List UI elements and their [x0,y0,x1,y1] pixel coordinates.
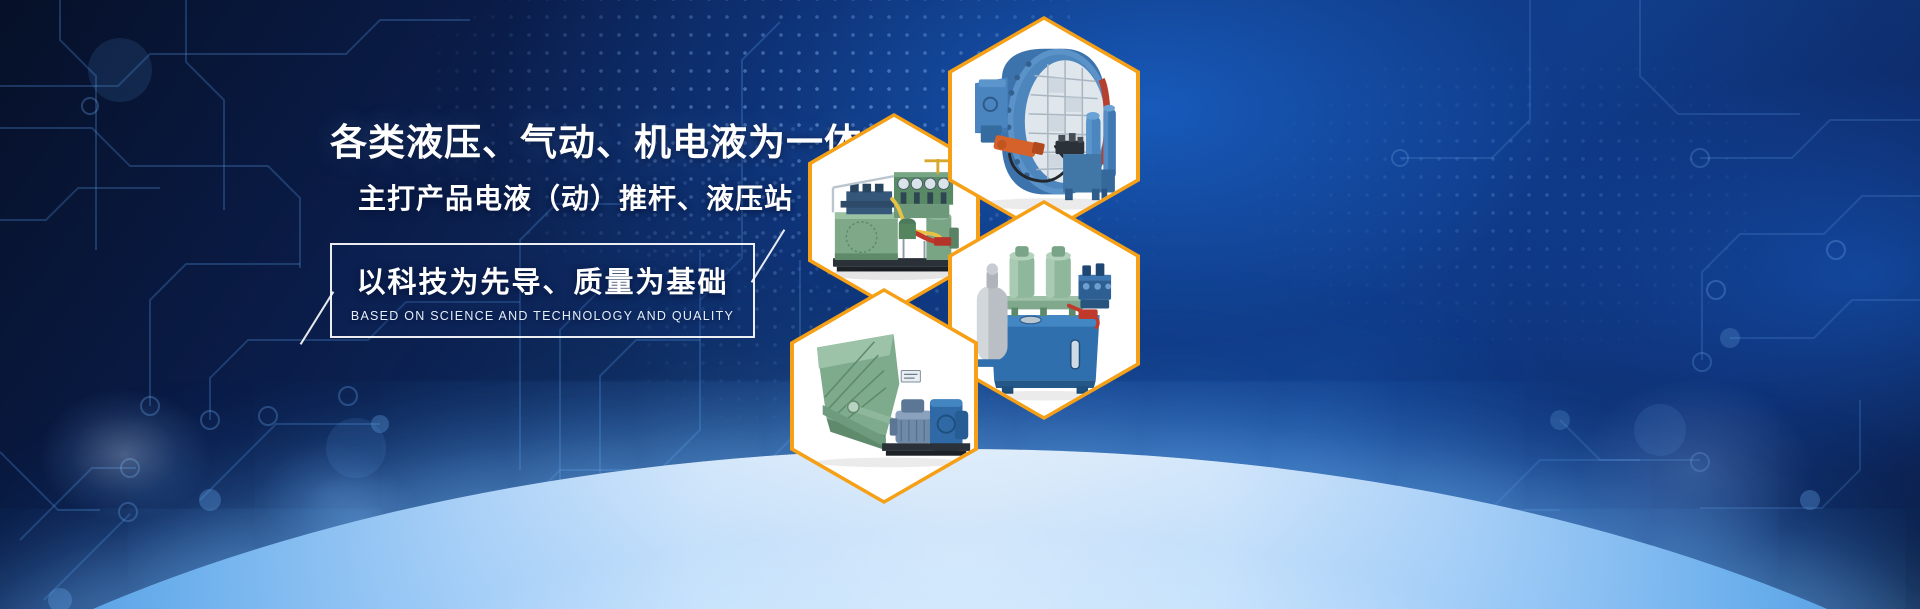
slogan-english: BASED ON SCIENCE AND TECHNOLOGY AND QUAL… [332,309,753,323]
page-title: 各类液压、气动、机电液为一体 [330,120,800,165]
dot-matrix-texture-right [1250,60,1750,360]
photo-electro-hydraulic-pusher [794,292,974,499]
slash-accent-right [751,229,786,283]
banner-subheadline: 主打产品电液（动）推杆、液压站 [330,177,800,217]
hero-banner: 各类液压、气动、机电液为一体 主打产品电液（动）推杆、液压站 以科技为先导、质量… [0,0,1920,609]
light-bloom [40,390,210,520]
banner-copy: 各类液压、气动、机电液为一体 主打产品电液（动）推杆、液压站 以科技为先导、质量… [330,120,800,338]
slogan-block: 以科技为先导、质量为基础 BASED ON SCIENCE AND TECHNO… [330,243,755,338]
slogan-chinese: 以科技为先导、质量为基础 [332,259,753,301]
light-bloom [1580,380,1810,560]
earth-horizon-graphic [0,449,1920,609]
slogan-box: 以科技为先导、质量为基础 BASED ON SCIENCE AND TECHNO… [330,243,755,338]
